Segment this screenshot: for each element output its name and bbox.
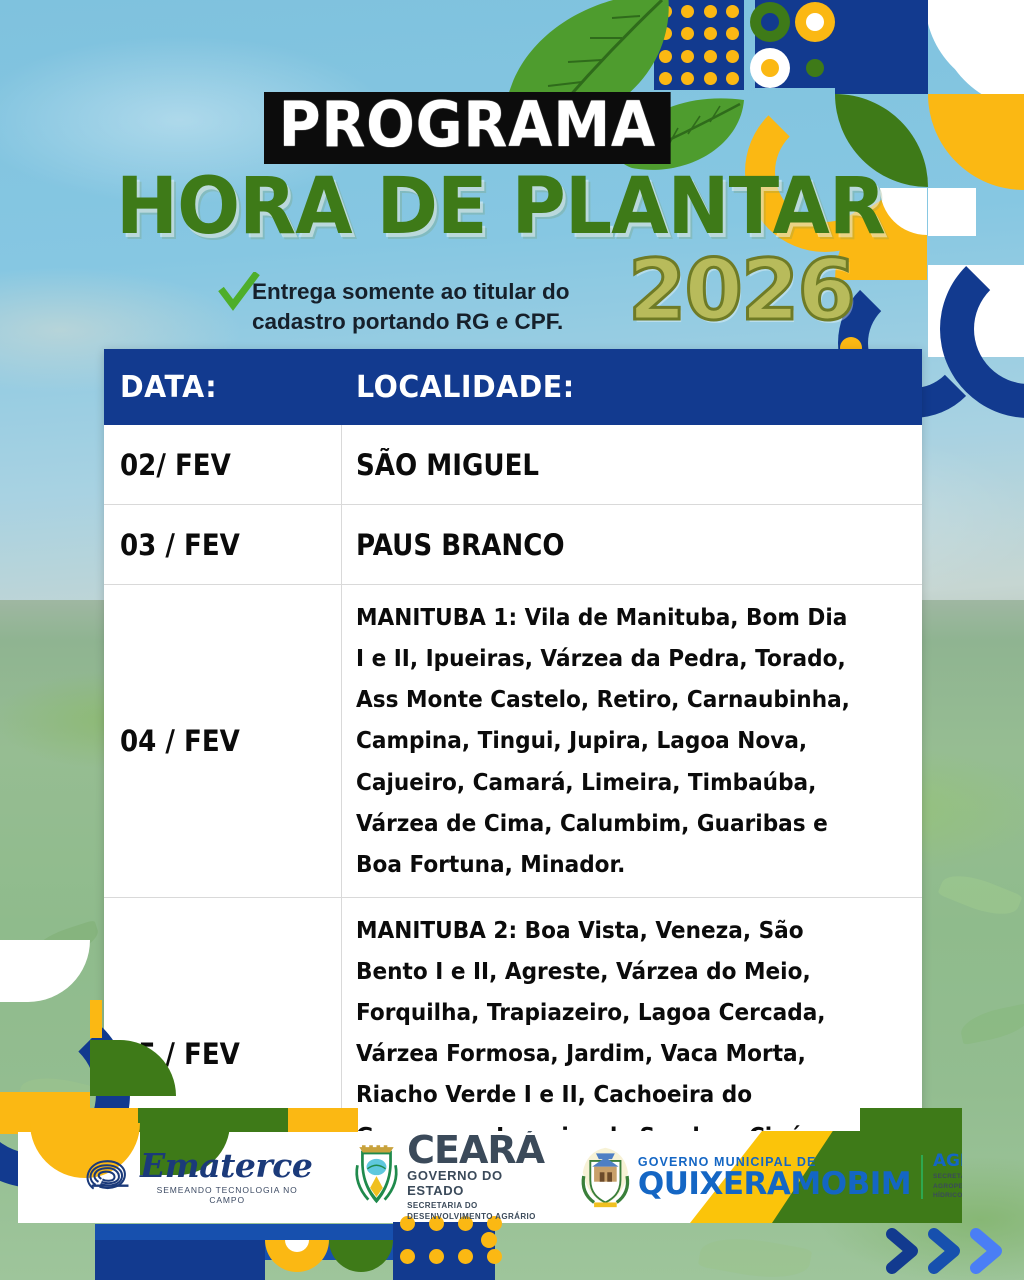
ceara-subtitle: GOVERNO DO ESTADO [407, 1168, 549, 1198]
agricultura-secretaria-line1: SECRETARIA DE DESENVOLVIMENTO [933, 1172, 962, 1182]
white-donut-hole [761, 59, 779, 77]
table-cell-date: 03 / FEV [104, 505, 342, 584]
table-cell-locality: PAUS BRANCO [342, 505, 922, 584]
ceara-secretaria-line2: DESENVOLVIMENTO AGRÁRIO [407, 1212, 549, 1222]
table-cell-date: 02/ FEV [104, 425, 342, 504]
poster-canvas: PROGRAMA HORA DE PLANTAR 2026 Entrega so… [0, 0, 1024, 1280]
ematerce-wordmark: Ematerce [140, 1149, 314, 1182]
ceara-secretaria: SECRETARIA DO DESENVOLVIMENTO AGRÁRIO [407, 1201, 549, 1222]
logo-quixeramobim: GOVERNO MUNICIPAL DE QUIXERAMOBIM AGRICU… [579, 1142, 962, 1212]
ceara-wordmark: CEARÁ [407, 1132, 549, 1168]
table-cell-locality: MANITUBA 1: Vila de Manituba, Bom Dia I … [342, 585, 922, 897]
logo-ceara: CEARÁ GOVERNO DO ESTADO SECRETARIA DO DE… [352, 1132, 549, 1222]
table-header-row: DATA: LOCALIDADE: [104, 349, 922, 425]
ematerce-mark-icon [84, 1155, 138, 1199]
chevron-right-icon-2 [926, 1228, 966, 1274]
chevron-right-triple-icon [884, 1228, 1008, 1274]
delivery-note-line2: cadastro portando RG e CPF. [252, 307, 632, 337]
title-hora-de-plantar: HORA DE PLANTAR [116, 168, 885, 246]
table-header-cell-localidade: LOCALIDADE: [342, 349, 922, 425]
yellow-dot-accent [481, 1232, 497, 1248]
table-row: 04 / FEV MANITUBA 1: Vila de Manituba, B… [104, 585, 922, 898]
chevron-right-icon-3 [968, 1228, 1008, 1274]
table-cell-locality: SÃO MIGUEL [342, 425, 922, 504]
agricultura-secretaria: SECRETARIA DE DESENVOLVIMENTO AGROPECUÁR… [933, 1172, 962, 1201]
logo-ematerce: Ematerce SEMEANDO TECNOLOGIA NO CAMPO [84, 1149, 314, 1205]
schedule-table: DATA: LOCALIDADE: 02/ FEV SÃO MIGUEL 03 … [104, 349, 922, 1210]
ematerce-tagline: SEMEANDO TECNOLOGIA NO CAMPO [140, 1185, 314, 1205]
chevron-right-icon-1 [884, 1228, 924, 1274]
navy-block-large [835, 0, 928, 94]
agricultura-secretaria-line2: AGROPECUÁRIO E RECURSOS HÍDRICOS [933, 1182, 962, 1202]
yellow-small-block [90, 1000, 102, 1038]
logo-divider [921, 1155, 923, 1199]
ceara-coat-of-arms-icon [352, 1142, 401, 1212]
strip-yellow-top-2 [288, 1108, 358, 1132]
delivery-note-line1: Entrega somente ao titular do [252, 277, 632, 307]
table-cell-date: 04 / FEV [104, 585, 342, 897]
bottom-dot-row-bottom [400, 1249, 502, 1264]
green-donut-hole [761, 13, 779, 31]
strip-green-right [860, 1108, 962, 1132]
bottom-navy-block [95, 1240, 265, 1280]
table-row: 03 / FEV PAUS BRANCO [104, 505, 922, 585]
quixeramobim-coat-of-arms-icon [579, 1142, 632, 1212]
navy-donut-hole [806, 59, 824, 77]
title-programa: PROGRAMA [264, 92, 671, 164]
yellow-donut-hole [806, 13, 824, 31]
ceara-secretaria-line1: SECRETARIA DO [407, 1201, 549, 1211]
agricultura-wordmark: AGRICULTURA [933, 1153, 962, 1170]
title-year: 2026 [628, 248, 854, 332]
delivery-note: Entrega somente ao titular do cadastro p… [252, 277, 632, 336]
quixeramobim-wordmark: QUIXERAMOBIM [638, 1169, 911, 1200]
table-header-cell-data: DATA: [104, 349, 342, 425]
table-row: 02/ FEV SÃO MIGUEL [104, 425, 922, 505]
